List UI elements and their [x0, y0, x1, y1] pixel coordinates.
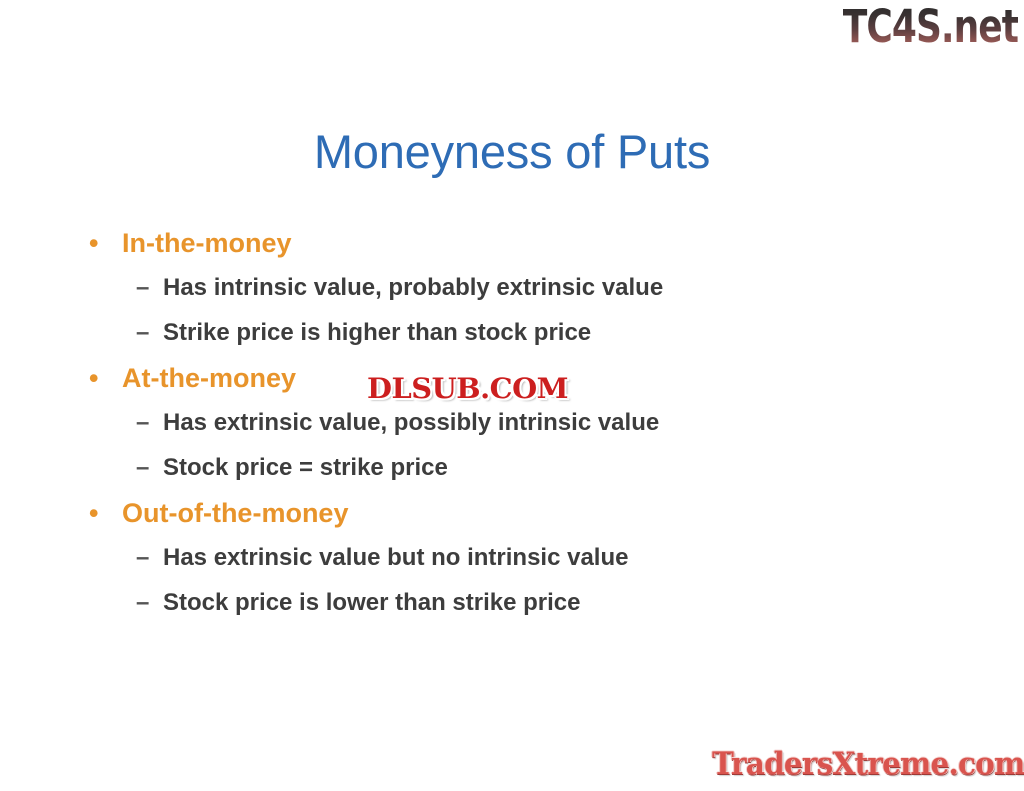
bullet-level2-label: Strike price is higher than stock price: [163, 319, 591, 346]
bullet-dash-icon: –: [136, 449, 158, 487]
bullet-level2-item: – Strike price is higher than stock pric…: [0, 314, 1024, 359]
page-title: Moneyness of Puts: [0, 124, 1024, 180]
tradersxtreme-logo: TradersXtreme.com: [712, 744, 1020, 788]
bullet-level1-label: At-the-money: [122, 363, 296, 393]
bullet-level1-label: In-the-money: [122, 228, 292, 258]
tc4s-site-logo: TC4S.net TC4S.net: [820, 0, 1024, 60]
bullet-level2-item: – Has intrinsic value, probably extrinsi…: [0, 269, 1024, 314]
bullet-dash-icon: –: [136, 539, 158, 577]
bullet-level1-label: Out-of-the-money: [122, 498, 348, 528]
bullet-dot-icon: •: [89, 494, 103, 532]
tc4s-logo-text: TC4S.net: [843, 2, 1018, 52]
bullet-level2-item: – Stock price = strike price: [0, 449, 1024, 494]
bullet-level2-item: – Has extrinsic value but no intrinsic v…: [0, 539, 1024, 584]
bullet-level2-label: Stock price = strike price: [163, 454, 448, 481]
bullet-dash-icon: –: [136, 269, 158, 307]
bullet-dash-icon: –: [136, 584, 158, 622]
bullet-level2-item: – Stock price is lower than strike price: [0, 584, 1024, 629]
bullet-level2-label: Stock price is lower than strike price: [163, 589, 581, 616]
presentation-slide: TC4S.net TC4S.net Moneyness of Puts • In…: [0, 0, 1024, 791]
bullet-level1-in-the-money: • In-the-money: [0, 224, 1024, 269]
tradersxtreme-logo-text: TradersXtreme.com: [712, 744, 1024, 784]
bullet-dot-icon: •: [89, 359, 103, 397]
bullet-dash-icon: –: [136, 314, 158, 352]
bullet-dot-icon: •: [89, 224, 103, 262]
bullet-level2-label: Has intrinsic value, probably extrinsic …: [163, 274, 663, 301]
slide-body-list: • In-the-money – Has intrinsic value, pr…: [0, 224, 1024, 629]
bullet-dash-icon: –: [136, 404, 158, 442]
dlsub-watermark-text: DLSUB.COM: [367, 374, 568, 405]
dlsub-watermark: DLSUB.COM: [362, 372, 581, 414]
bullet-level1-out-of-the-money: • Out-of-the-money: [0, 494, 1024, 539]
bullet-level2-label: Has extrinsic value but no intrinsic val…: [163, 544, 628, 571]
